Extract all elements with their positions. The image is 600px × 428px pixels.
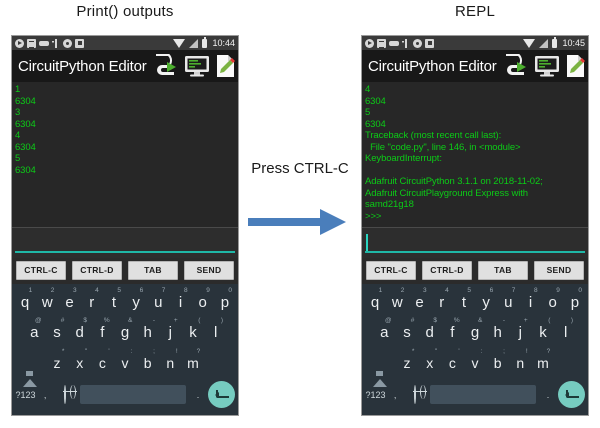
status-bar: 10:44 <box>12 36 238 50</box>
keyboard-icon <box>39 41 49 46</box>
key-sup: - <box>503 317 505 325</box>
comma-key[interactable]: , <box>387 379 403 411</box>
key-label: q <box>371 294 379 311</box>
key-u[interactable]: 7u <box>497 288 519 317</box>
key-label: c <box>449 355 456 371</box>
send-button[interactable]: SEND <box>534 261 584 280</box>
key-f[interactable]: %f <box>91 318 114 347</box>
key-label: j <box>519 324 522 341</box>
key-sup: " <box>85 348 87 356</box>
key-sup: ' <box>108 348 109 356</box>
key-label: s <box>403 324 411 341</box>
key-label: g <box>471 324 479 341</box>
key-label: r <box>439 294 444 311</box>
key-label: i <box>529 294 532 311</box>
key-h[interactable]: -h <box>136 318 159 347</box>
key-p[interactable]: 0p <box>564 288 586 317</box>
key-y[interactable]: 6y <box>475 288 497 317</box>
sdcard-icon <box>425 39 434 48</box>
key-label: f <box>100 324 104 341</box>
key-sup: % <box>454 317 460 325</box>
key-e[interactable]: 3e <box>58 288 80 317</box>
key-l[interactable]: )l <box>204 318 227 347</box>
key-b[interactable]: ;b <box>136 349 159 378</box>
shift-key[interactable] <box>14 349 46 378</box>
key-label: v <box>122 355 129 371</box>
key-sup: ' <box>458 348 459 356</box>
key-z[interactable]: *z <box>396 349 419 378</box>
terminal-line: 6304 <box>15 165 236 177</box>
key-label: h <box>144 324 152 341</box>
key-t[interactable]: 5t <box>103 288 125 317</box>
battery-icon <box>552 39 557 48</box>
right-arrow-icon <box>248 205 348 239</box>
note-icon <box>377 39 386 48</box>
key-l[interactable]: )l <box>554 318 577 347</box>
app-bar: CircuitPython Editor <box>362 50 588 82</box>
status-bar-right-icons: 10:45 <box>523 39 585 48</box>
terminal-line: 6304 <box>15 142 236 154</box>
key-f[interactable]: %f <box>441 318 464 347</box>
key-label: m <box>537 355 549 371</box>
terminal-line: 6304 <box>365 119 586 131</box>
terminal-line: 5 <box>365 107 586 119</box>
key-w[interactable]: 2w <box>386 288 408 317</box>
status-clock: 10:45 <box>561 39 585 48</box>
keyboard-row-2: @a #s $d %f &g -h +j (k )l <box>14 318 236 347</box>
terminal-line: 6304 <box>365 96 586 108</box>
period-key[interactable]: . <box>190 379 206 411</box>
key-sup: : <box>481 348 483 356</box>
key-sup: 5 <box>467 287 471 295</box>
instruction-text: Press CTRL-C <box>240 160 360 177</box>
key-label: f <box>450 324 454 341</box>
ctrl-d-button[interactable]: CTRL-D <box>72 261 122 280</box>
key-c[interactable]: 'c <box>91 349 114 378</box>
clock-icon <box>413 39 422 48</box>
key-j[interactable]: +j <box>509 318 532 347</box>
terminal-monitor-icon[interactable] <box>184 55 210 77</box>
key-label: j <box>169 324 172 341</box>
key-sup: 5 <box>117 287 121 295</box>
tab-button[interactable]: TAB <box>128 261 178 280</box>
key-sup: ! <box>526 348 528 356</box>
repl-input-field[interactable] <box>15 230 235 253</box>
key-sup: 2 <box>51 287 55 295</box>
enter-key[interactable] <box>206 381 236 408</box>
terminal-line: 3 <box>15 107 236 119</box>
app-bar: CircuitPython Editor <box>12 50 238 82</box>
note-icon <box>27 39 36 48</box>
terminal-prompt: >>> <box>365 211 586 223</box>
terminal-line: File "code.py", line 146, in <module> <box>365 142 586 154</box>
key-label: n <box>516 355 524 371</box>
status-bar-right-icons: 10:44 <box>173 39 235 48</box>
backspace-key[interactable] <box>204 349 236 378</box>
clock-icon <box>63 39 72 48</box>
app-title: CircuitPython Editor <box>18 58 147 75</box>
key-v[interactable]: :v <box>114 349 137 378</box>
key-sup: 9 <box>556 287 560 295</box>
globe-icon <box>414 385 416 404</box>
key-sup: ( <box>548 317 550 325</box>
key-sup: 3 <box>73 287 77 295</box>
key-sup: : <box>131 348 133 356</box>
key-e[interactable]: 3e <box>408 288 430 317</box>
enter-icon <box>558 381 585 408</box>
key-label: k <box>539 324 547 341</box>
repl-input-field[interactable] <box>365 230 585 253</box>
repl-input-zone[interactable] <box>12 228 238 258</box>
enter-key[interactable] <box>556 381 586 408</box>
key-x[interactable]: "x <box>68 349 91 378</box>
period-key[interactable]: . <box>540 379 556 411</box>
terminal-line: 6304 <box>15 119 236 131</box>
keyboard-row-1: 1q 2w 3e 4r 5t 6y 7u 8i 9o 0p <box>14 288 236 317</box>
key-sup: 4 <box>95 287 99 295</box>
key-g[interactable]: &g <box>464 318 487 347</box>
signal-icon <box>189 39 198 48</box>
key-u[interactable]: 7u <box>147 288 169 317</box>
key-label: n <box>166 355 174 371</box>
status-clock: 10:44 <box>211 39 235 48</box>
key-sup: & <box>478 317 482 325</box>
terminal-line: KeyboardInterrupt: <box>365 153 586 165</box>
key-sup: ) <box>221 317 223 325</box>
key-n[interactable]: !n <box>509 349 532 378</box>
status-bar-left-icons <box>15 39 84 48</box>
key-label: e <box>415 294 423 311</box>
key-t[interactable]: 5t <box>453 288 475 317</box>
comma-key[interactable]: , <box>37 379 53 411</box>
key-sup: 7 <box>512 287 516 295</box>
key-sup: ! <box>176 348 178 356</box>
key-sup: % <box>104 317 110 325</box>
key-label: o <box>199 294 207 311</box>
python-snake-icon[interactable] <box>153 54 179 78</box>
key-label: v <box>472 355 479 371</box>
key-sup: * <box>62 348 65 356</box>
terminal-line: 6304 <box>15 96 236 108</box>
status-bar-left-icons <box>365 39 434 48</box>
key-q[interactable]: 1q <box>14 288 36 317</box>
key-label: d <box>75 324 83 341</box>
key-sup: ; <box>503 348 505 356</box>
key-label: g <box>121 324 129 341</box>
usb-icon <box>402 39 410 48</box>
key-sup: @ <box>385 317 392 325</box>
key-sup: 3 <box>423 287 427 295</box>
key-label: x <box>426 355 433 371</box>
key-r[interactable]: 4r <box>81 288 103 317</box>
key-label: c <box>99 355 106 371</box>
key-label: t <box>462 294 466 311</box>
key-label: p <box>571 294 579 311</box>
keyboard-row-4: ?123 , . <box>364 379 586 411</box>
terminal-line: 4 <box>15 130 236 142</box>
key-sup: # <box>61 317 65 325</box>
key-h[interactable]: -h <box>486 318 509 347</box>
action-button-row: CTRL-C CTRL-D TAB SEND <box>362 258 588 284</box>
key-label: u <box>154 294 162 311</box>
key-r[interactable]: 4r <box>431 288 453 317</box>
keyboard-row-4: ?123 , . <box>14 379 236 411</box>
key-k[interactable]: (k <box>532 318 555 347</box>
language-key[interactable] <box>53 380 76 409</box>
terminal-output-left[interactable]: 1 6304 3 6304 4 6304 5 6304 <box>12 82 238 228</box>
key-k[interactable]: (k <box>182 318 205 347</box>
key-a[interactable]: @a <box>373 318 396 347</box>
key-sup: 1 <box>29 287 33 295</box>
keyboard-row-1: 1q 2w 3e 4r 5t 6y 7u 8i 9o 0p <box>364 288 586 317</box>
battery-icon <box>202 39 207 48</box>
action-button-row: CTRL-C CTRL-D TAB SEND <box>12 258 238 284</box>
phone-left-print-outputs: 10:44 CircuitPython Editor <box>11 35 239 416</box>
key-sup: ? <box>197 348 201 356</box>
terminal-line: samd21g18 <box>365 199 586 211</box>
key-sup: 9 <box>206 287 210 295</box>
repl-input-zone[interactable] <box>362 228 588 258</box>
key-label: a <box>30 324 38 341</box>
key-v[interactable]: :v <box>464 349 487 378</box>
python-snake-icon[interactable] <box>503 54 529 78</box>
key-p[interactable]: 0p <box>214 288 236 317</box>
key-label: x <box>76 355 83 371</box>
key-q[interactable]: 1q <box>364 288 386 317</box>
terminal-line: Traceback (most recent call last): <box>365 130 586 142</box>
key-o[interactable]: 9o <box>192 288 214 317</box>
key-sup: 6 <box>140 287 144 295</box>
key-sup: " <box>435 348 437 356</box>
ctrl-c-button[interactable]: CTRL-C <box>366 261 416 280</box>
caption-repl: REPL <box>350 3 600 20</box>
key-sup: * <box>412 348 415 356</box>
key-y[interactable]: 6y <box>125 288 147 317</box>
key-sup: 8 <box>534 287 538 295</box>
key-sup: ? <box>547 348 551 356</box>
status-bar: 10:45 <box>362 36 588 50</box>
key-label: z <box>404 355 411 371</box>
language-key[interactable] <box>403 380 426 409</box>
key-label: s <box>53 324 61 341</box>
play-icon <box>365 39 374 48</box>
key-n[interactable]: !n <box>159 349 182 378</box>
key-label: p <box>221 294 229 311</box>
space-key[interactable] <box>80 385 186 404</box>
key-label: h <box>494 324 502 341</box>
key-sup: # <box>411 317 415 325</box>
key-label: w <box>392 294 403 311</box>
key-sup: 6 <box>490 287 494 295</box>
wifi-icon <box>523 39 535 48</box>
key-i[interactable]: 8i <box>169 288 191 317</box>
enter-icon <box>208 381 235 408</box>
key-s[interactable]: #s <box>396 318 419 347</box>
key-label: i <box>179 294 182 311</box>
globe-icon <box>64 385 66 404</box>
key-c[interactable]: 'c <box>441 349 464 378</box>
key-x[interactable]: "x <box>418 349 441 378</box>
key-sup: $ <box>433 317 437 325</box>
key-sup: - <box>153 317 155 325</box>
key-label: r <box>89 294 94 311</box>
key-label: q <box>21 294 29 311</box>
key-label: d <box>425 324 433 341</box>
wifi-icon <box>173 39 185 48</box>
shift-icon <box>23 363 37 387</box>
ctrl-d-button[interactable]: CTRL-D <box>422 261 472 280</box>
terminal-line: 4 <box>365 84 586 96</box>
send-button[interactable]: SEND <box>184 261 234 280</box>
edit-file-icon[interactable] <box>215 54 237 78</box>
key-d[interactable]: $d <box>68 318 91 347</box>
app-title: CircuitPython Editor <box>368 58 497 75</box>
key-label: t <box>112 294 116 311</box>
key-sup: $ <box>83 317 87 325</box>
key-label: z <box>54 355 61 371</box>
key-o[interactable]: 9o <box>542 288 564 317</box>
terminal-output-right[interactable]: 4 6304 5 6304 Traceback (most recent cal… <box>362 82 588 228</box>
key-sup: 8 <box>184 287 188 295</box>
key-j[interactable]: +j <box>159 318 182 347</box>
play-icon <box>15 39 24 48</box>
key-sup: + <box>524 317 528 325</box>
key-g[interactable]: &g <box>114 318 137 347</box>
key-label: l <box>214 324 217 341</box>
tab-button[interactable]: TAB <box>478 261 528 280</box>
app-bar-icons <box>153 54 237 78</box>
key-label: l <box>564 324 567 341</box>
key-sup: ; <box>153 348 155 356</box>
key-label: a <box>380 324 388 341</box>
terminal-line: 1 <box>15 84 236 96</box>
key-s[interactable]: #s <box>46 318 69 347</box>
shift-key[interactable] <box>364 349 396 378</box>
key-sup: @ <box>35 317 42 325</box>
terminal-monitor-icon[interactable] <box>534 55 560 77</box>
space-key[interactable] <box>430 385 536 404</box>
key-sup: 0 <box>578 287 582 295</box>
signal-icon <box>539 39 548 48</box>
key-b[interactable]: ;b <box>486 349 509 378</box>
key-sup: + <box>174 317 178 325</box>
key-label: k <box>189 324 197 341</box>
keyboard-icon <box>389 41 399 46</box>
key-label: b <box>494 355 502 371</box>
terminal-line: Adafruit CircuitPlayground Express with <box>365 188 586 200</box>
key-m[interactable]: ?m <box>182 349 205 378</box>
key-label: m <box>187 355 199 371</box>
key-sup: 1 <box>379 287 383 295</box>
backspace-key[interactable] <box>554 349 586 378</box>
key-m[interactable]: ?m <box>532 349 555 378</box>
caption-print-outputs: Print() outputs <box>0 3 250 20</box>
key-label: y <box>132 294 140 311</box>
key-label: u <box>504 294 512 311</box>
text-caret <box>366 234 368 251</box>
key-label: o <box>549 294 557 311</box>
shift-icon <box>373 363 387 387</box>
key-sup: 7 <box>162 287 166 295</box>
keyboard-row-2: @a #s $d %f &g -h +j (k )l <box>364 318 586 347</box>
key-i[interactable]: 8i <box>519 288 541 317</box>
keyboard-row-3: *z "x 'c :v ;b !n ?m <box>364 349 586 378</box>
key-sup: 4 <box>445 287 449 295</box>
key-sup: 0 <box>228 287 232 295</box>
on-screen-keyboard: 1q 2w 3e 4r 5t 6y 7u 8i 9o 0p @a #s $d %… <box>362 284 588 415</box>
key-label: e <box>65 294 73 311</box>
phone-right-repl: 10:45 CircuitPython Editor <box>361 35 589 416</box>
ctrl-c-button[interactable]: CTRL-C <box>16 261 66 280</box>
terminal-line <box>365 165 586 177</box>
terminal-line: 5 <box>15 153 236 165</box>
sdcard-icon <box>75 39 84 48</box>
key-label: b <box>144 355 152 371</box>
key-a[interactable]: @a <box>23 318 46 347</box>
on-screen-keyboard: 1q 2w 3e 4r 5t 6y 7u 8i 9o 0p @a #s $d %… <box>12 284 238 415</box>
key-d[interactable]: $d <box>418 318 441 347</box>
key-sup: ) <box>571 317 573 325</box>
key-sup: 2 <box>401 287 405 295</box>
usb-icon <box>52 39 60 48</box>
edit-file-icon[interactable] <box>565 54 587 78</box>
key-label: w <box>42 294 53 311</box>
key-sup: ( <box>198 317 200 325</box>
key-label: y <box>482 294 490 311</box>
key-w[interactable]: 2w <box>36 288 58 317</box>
terminal-line: Adafruit CircuitPython 3.1.1 on 2018-11-… <box>365 176 586 188</box>
app-bar-icons <box>503 54 587 78</box>
key-sup: & <box>128 317 132 325</box>
key-z[interactable]: *z <box>46 349 69 378</box>
keyboard-row-3: *z "x 'c :v ;b !n ?m <box>14 349 236 378</box>
